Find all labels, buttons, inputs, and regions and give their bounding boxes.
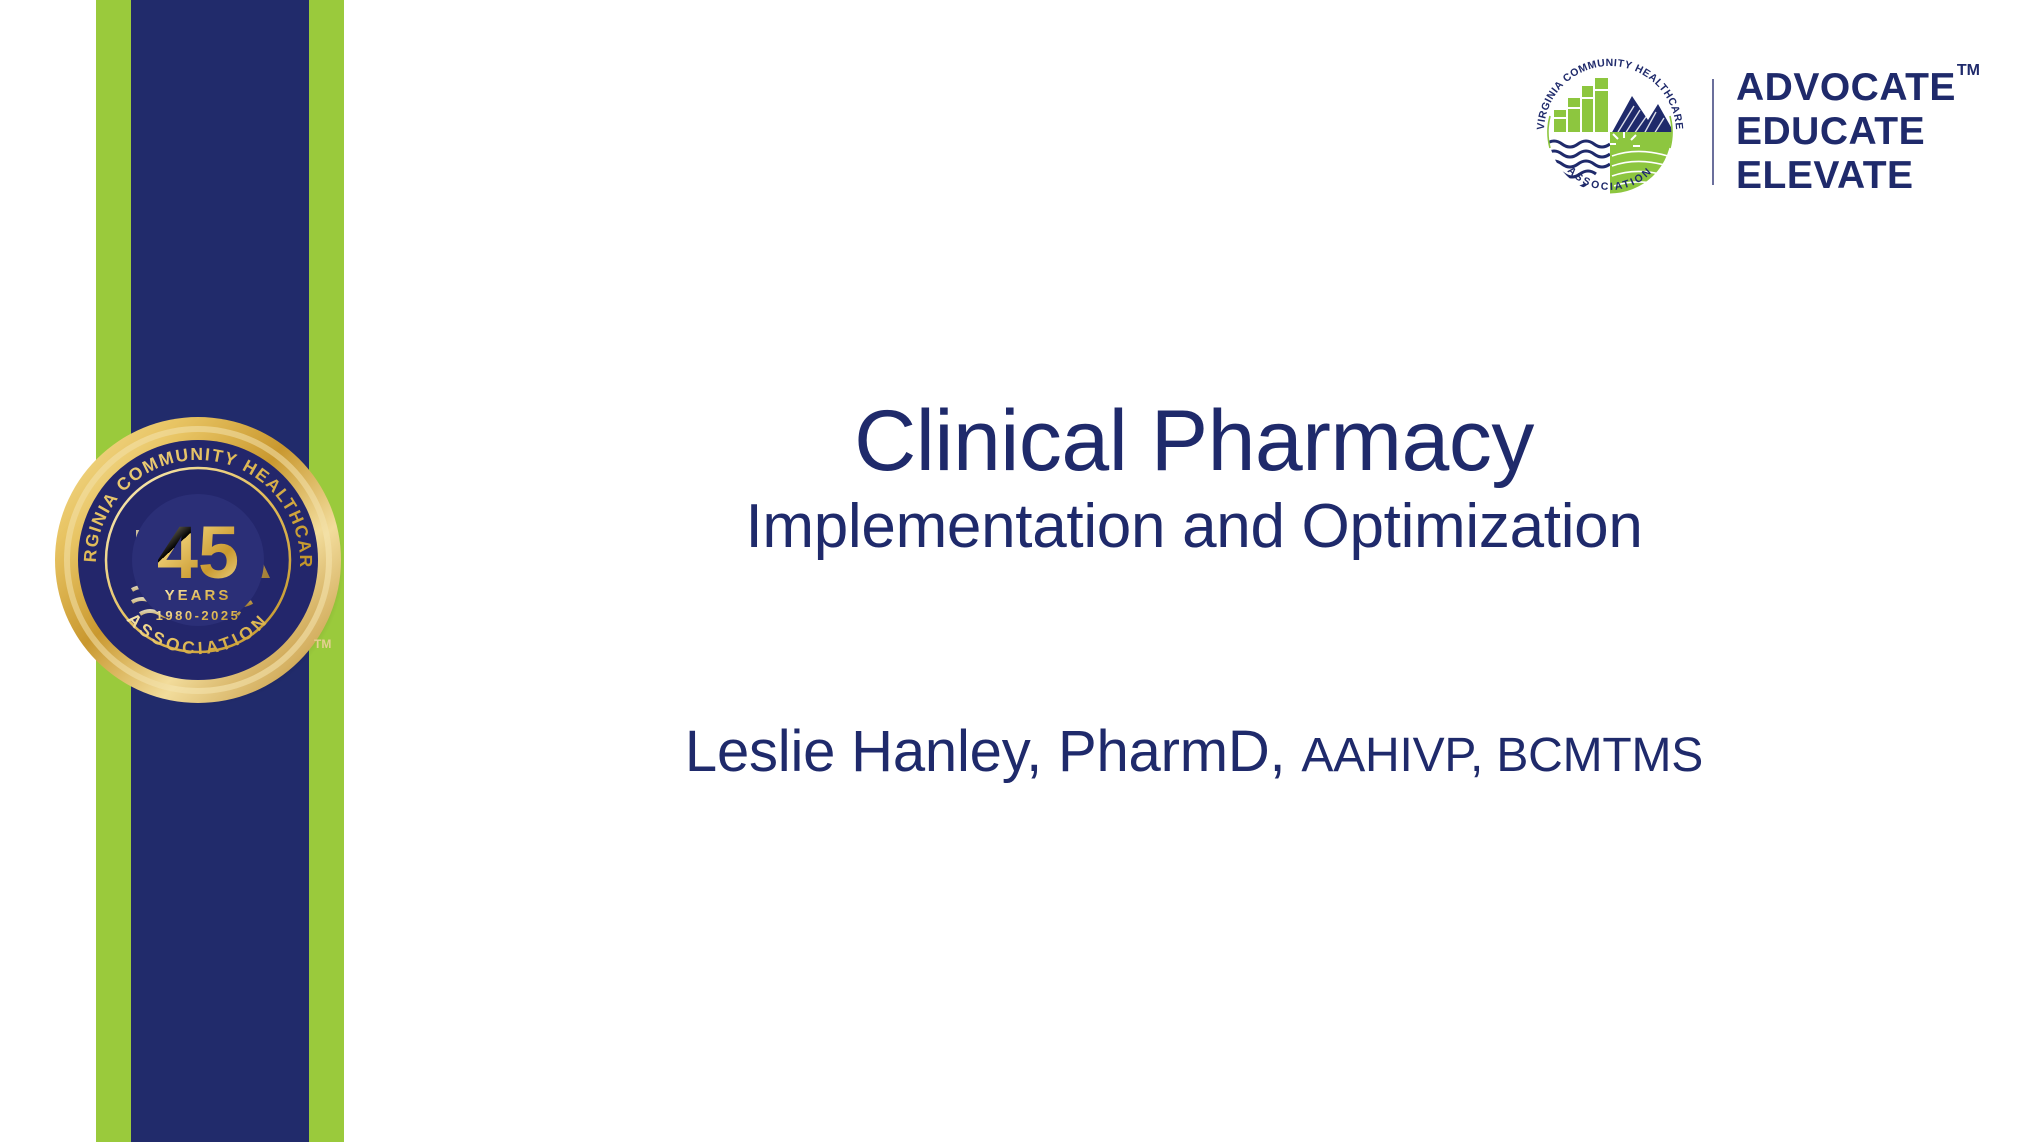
presenter-separator: , [1270,719,1302,784]
logo-divider [1712,79,1714,185]
tagline-trademark: TM [1957,62,1980,80]
slide-subtitle: Implementation and Optimization [344,494,2044,559]
slide-title: Clinical Pharmacy [344,398,2044,484]
seal-years-label: YEARS [165,587,232,604]
vcha-circle-logo-mark: VIRGINIA COMMUNITY HEALTHCARE ASSOCIATIO… [1530,52,1690,212]
title-block: Clinical Pharmacy Implementation and Opt… [344,398,2044,559]
presenter-name: Leslie Hanley, PharmD [685,719,1270,784]
tagline-line-advocate: ADVOCATE [1736,66,1956,110]
seal-number: 45 [157,511,239,594]
vcha-header-logo: VIRGINIA COMMUNITY HEALTHCARE ASSOCIATIO… [1530,52,1956,212]
seal-trademark: TM [314,637,331,651]
presenter-credentials: AAHIVP, BCMTMS [1301,729,1703,782]
presentation-slide: 45 YEARS 1980-2025 VIRGINIA COMMUNITY HE… [0,0,2044,1142]
tagline-line-educate: EDUCATE [1736,110,1956,154]
logo-tagline: ADVOCATE EDUCATE ELEVATE TM [1736,66,1956,197]
tagline-line-elevate: ELEVATE [1736,154,1956,198]
seal-year-range: 1980-2025 [156,608,241,623]
anniversary-seal: 45 YEARS 1980-2025 VIRGINIA COMMUNITY HE… [48,410,348,710]
presenter-line: Leslie Hanley, PharmD, AAHIVP, BCMTMS [344,718,2044,785]
